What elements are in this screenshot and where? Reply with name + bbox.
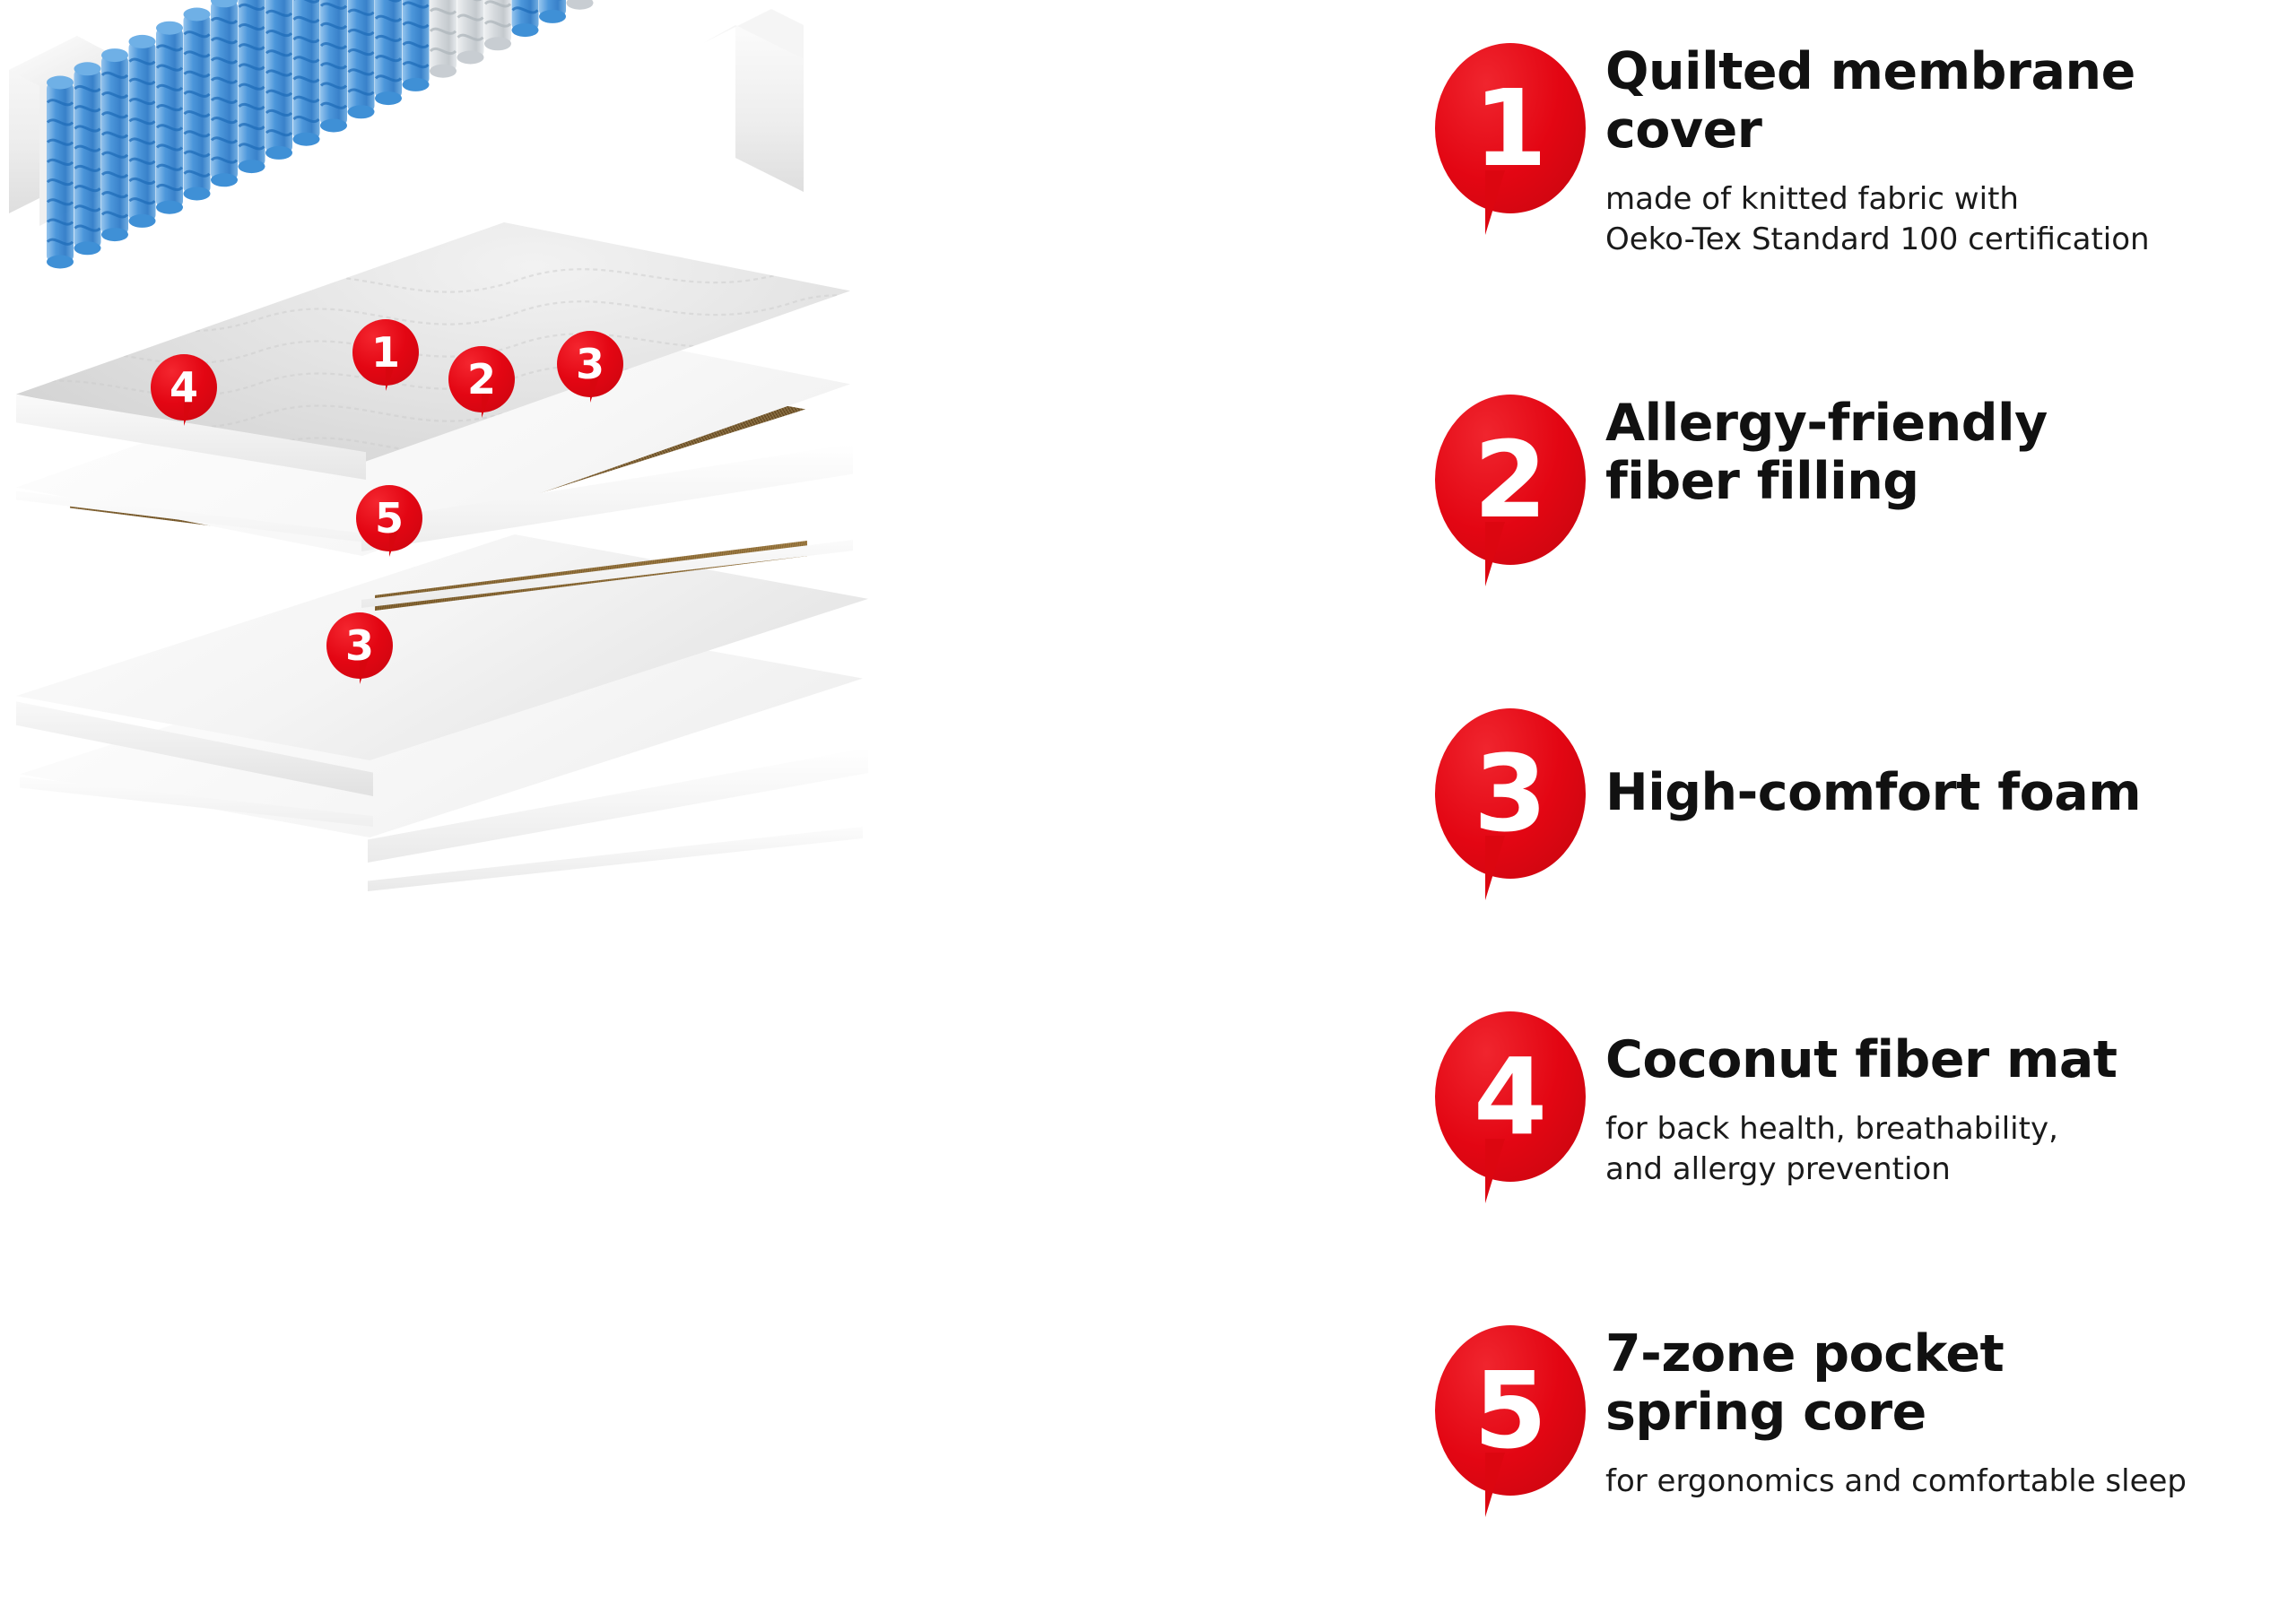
- legend-title-3: High-comfort foam: [1605, 764, 2296, 822]
- legend-pin-1-icon: 1: [1435, 43, 1586, 236]
- legend-text-3: High-comfort foam: [1586, 708, 2296, 901]
- pocket-spring-column: [320, 0, 347, 133]
- pocket-spring-column: [375, 0, 402, 105]
- legend-pin-2-icon: 2: [1435, 395, 1586, 587]
- diagram-marker-1[interactable]: 1: [352, 319, 419, 386]
- diagram-marker-2[interactable]: 2: [448, 346, 515, 412]
- diagram-marker-3-bottom[interactable]: 3: [326, 612, 393, 679]
- pocket-spring-column: [239, 0, 265, 173]
- legend-number-4: 4: [1435, 1011, 1586, 1182]
- legend-pin-5-icon: 5: [1435, 1325, 1586, 1518]
- legend-subtitle-5: for ergonomics and comfortable sleep: [1605, 1462, 2296, 1502]
- legend-title-5: 7-zone pocket spring core: [1605, 1325, 2296, 1442]
- infographic-canvas: 1 2 3 4 5 3 1 Quilted membrane cover mad…: [0, 0, 2296, 1605]
- legend-subtitle-1: made of knitted fabric with Oeko-Tex Sta…: [1605, 179, 2296, 260]
- layer-legend-list: 1 Quilted membrane cover made of knitted…: [1435, 0, 2296, 1605]
- pocket-spring-column: [293, 0, 320, 146]
- foam-edge-block-right: [703, 0, 804, 192]
- legend-text-1: Quilted membrane cover made of knitted f…: [1586, 43, 2296, 260]
- pocket-spring-column: [484, 0, 511, 50]
- pocket-spring-column: [129, 35, 156, 228]
- pocket-spring-column: [184, 8, 211, 201]
- legend-number-1: 1: [1435, 43, 1586, 213]
- pocket-spring-column: [512, 0, 539, 37]
- layer-quilted-cover: [16, 222, 850, 518]
- diagram-marker-4[interactable]: 4: [151, 354, 217, 421]
- legend-title-2: Allergy-friendly fiber filling: [1605, 395, 2296, 511]
- pocket-spring-column: [430, 0, 457, 78]
- pocket-spring-column: [567, 0, 594, 10]
- pocket-spring-column: [539, 0, 566, 23]
- legend-item-1[interactable]: 1 Quilted membrane cover made of knitted…: [1435, 43, 2296, 260]
- legend-number-3: 3: [1435, 708, 1586, 879]
- pocket-spring-column: [265, 0, 292, 160]
- mattress-cutaway-illustration: 1 2 3 4 5 3: [0, 0, 1408, 1605]
- legend-text-5: 7-zone pocket spring core for ergonomics…: [1586, 1325, 2296, 1518]
- legend-pin-3-icon: 3: [1435, 708, 1586, 901]
- legend-title-1: Quilted membrane cover: [1605, 43, 2296, 160]
- pocket-spring-column: [457, 0, 484, 65]
- pocket-spring-column: [348, 0, 375, 118]
- legend-number-2: 2: [1435, 395, 1586, 565]
- pocket-spring-column: [403, 0, 430, 91]
- legend-item-5[interactable]: 5 7-zone pocket spring core for ergonomi…: [1435, 1325, 2296, 1518]
- legend-text-2: Allergy-friendly fiber filling: [1586, 395, 2296, 587]
- legend-item-3[interactable]: 3 High-comfort foam: [1435, 708, 2296, 901]
- pocket-spring-column: [101, 48, 128, 241]
- legend-title-4: Coconut fiber mat: [1605, 1031, 2296, 1089]
- legend-item-4[interactable]: 4 Coconut fiber mat for back health, bre…: [1435, 1011, 2296, 1204]
- diagram-marker-5[interactable]: 5: [356, 485, 422, 551]
- legend-subtitle-4: for back health, breathability, and alle…: [1605, 1109, 2296, 1190]
- legend-pin-4-icon: 4: [1435, 1011, 1586, 1204]
- legend-number-5: 5: [1435, 1325, 1586, 1496]
- legend-text-4: Coconut fiber mat for back health, breat…: [1586, 1011, 2296, 1204]
- pocket-spring-column: [211, 0, 238, 187]
- legend-item-2[interactable]: 2 Allergy-friendly fiber filling: [1435, 395, 2296, 587]
- pocket-spring-column: [156, 22, 183, 214]
- diagram-marker-3-top[interactable]: 3: [557, 331, 623, 397]
